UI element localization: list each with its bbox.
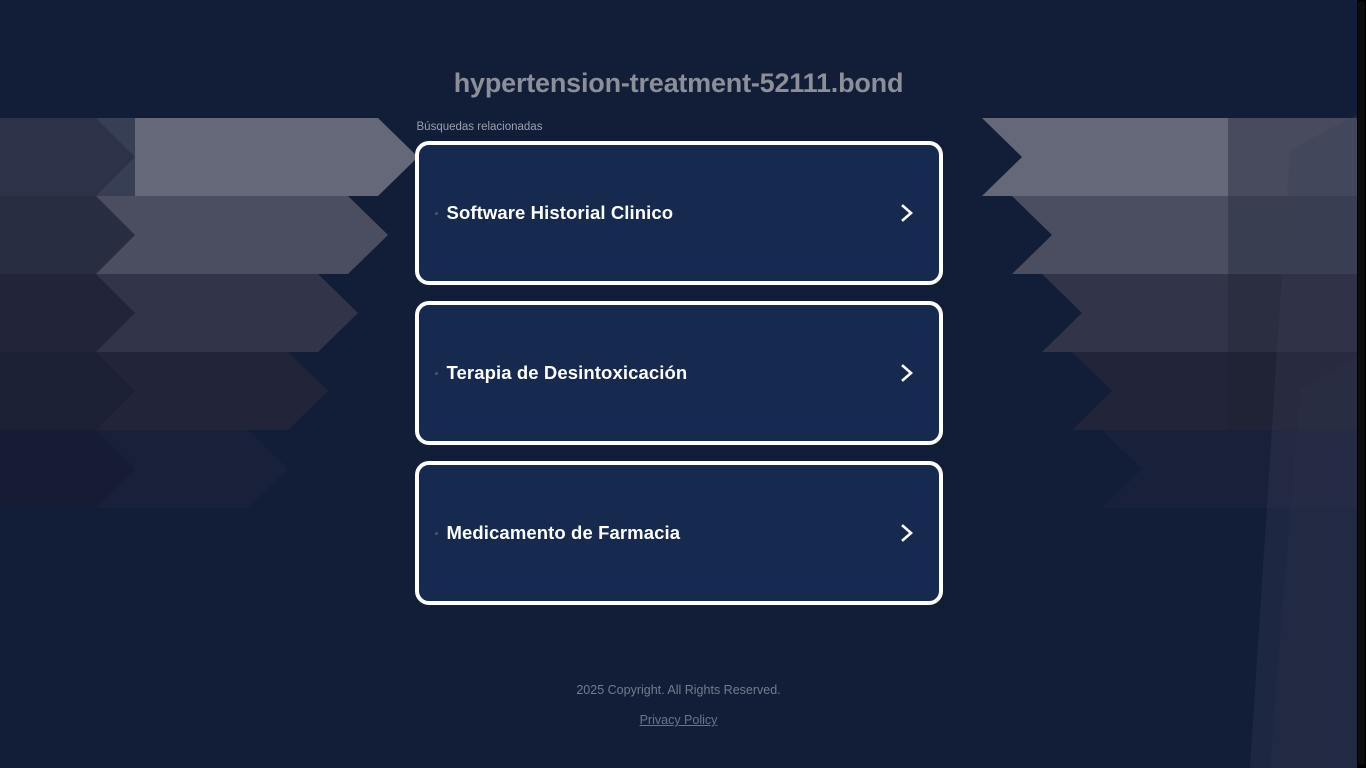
page-root: hypertension-treatment-52111.bond Búsque… [0, 0, 1357, 768]
content-wrapper: hypertension-treatment-52111.bond Búsque… [0, 0, 1357, 729]
chevron-right-icon [897, 522, 917, 544]
scrollbar-thumb[interactable] [1358, 1, 1365, 765]
privacy-policy-link[interactable]: Privacy Policy [640, 711, 718, 729]
related-search-label: Medicamento de Farmacia [447, 522, 897, 544]
vertical-scrollbar[interactable] [1357, 0, 1366, 768]
related-search-card-3[interactable]: Medicamento de Farmacia [415, 461, 943, 605]
related-search-card-2[interactable]: Terapia de Desintoxicación [415, 301, 943, 445]
footer: 2025 Copyright. All Rights Reserved. Pri… [0, 605, 1357, 729]
bullet-dot-icon [435, 532, 438, 535]
chevron-right-icon [897, 362, 917, 384]
bullet-dot-icon [435, 372, 438, 375]
related-search-card-1[interactable]: Software Historial Clinico [415, 141, 943, 285]
related-searches-section: Búsquedas relacionadas Software Historia… [415, 98, 943, 605]
copyright-text: 2025 Copyright. All Rights Reserved. [0, 681, 1357, 699]
chevron-right-icon [897, 202, 917, 224]
page-title: hypertension-treatment-52111.bond [0, 0, 1357, 98]
bullet-dot-icon [435, 212, 438, 215]
related-searches-label: Búsquedas relacionadas [415, 120, 943, 141]
related-search-label: Terapia de Desintoxicación [447, 362, 897, 384]
related-search-label: Software Historial Clinico [447, 202, 897, 224]
